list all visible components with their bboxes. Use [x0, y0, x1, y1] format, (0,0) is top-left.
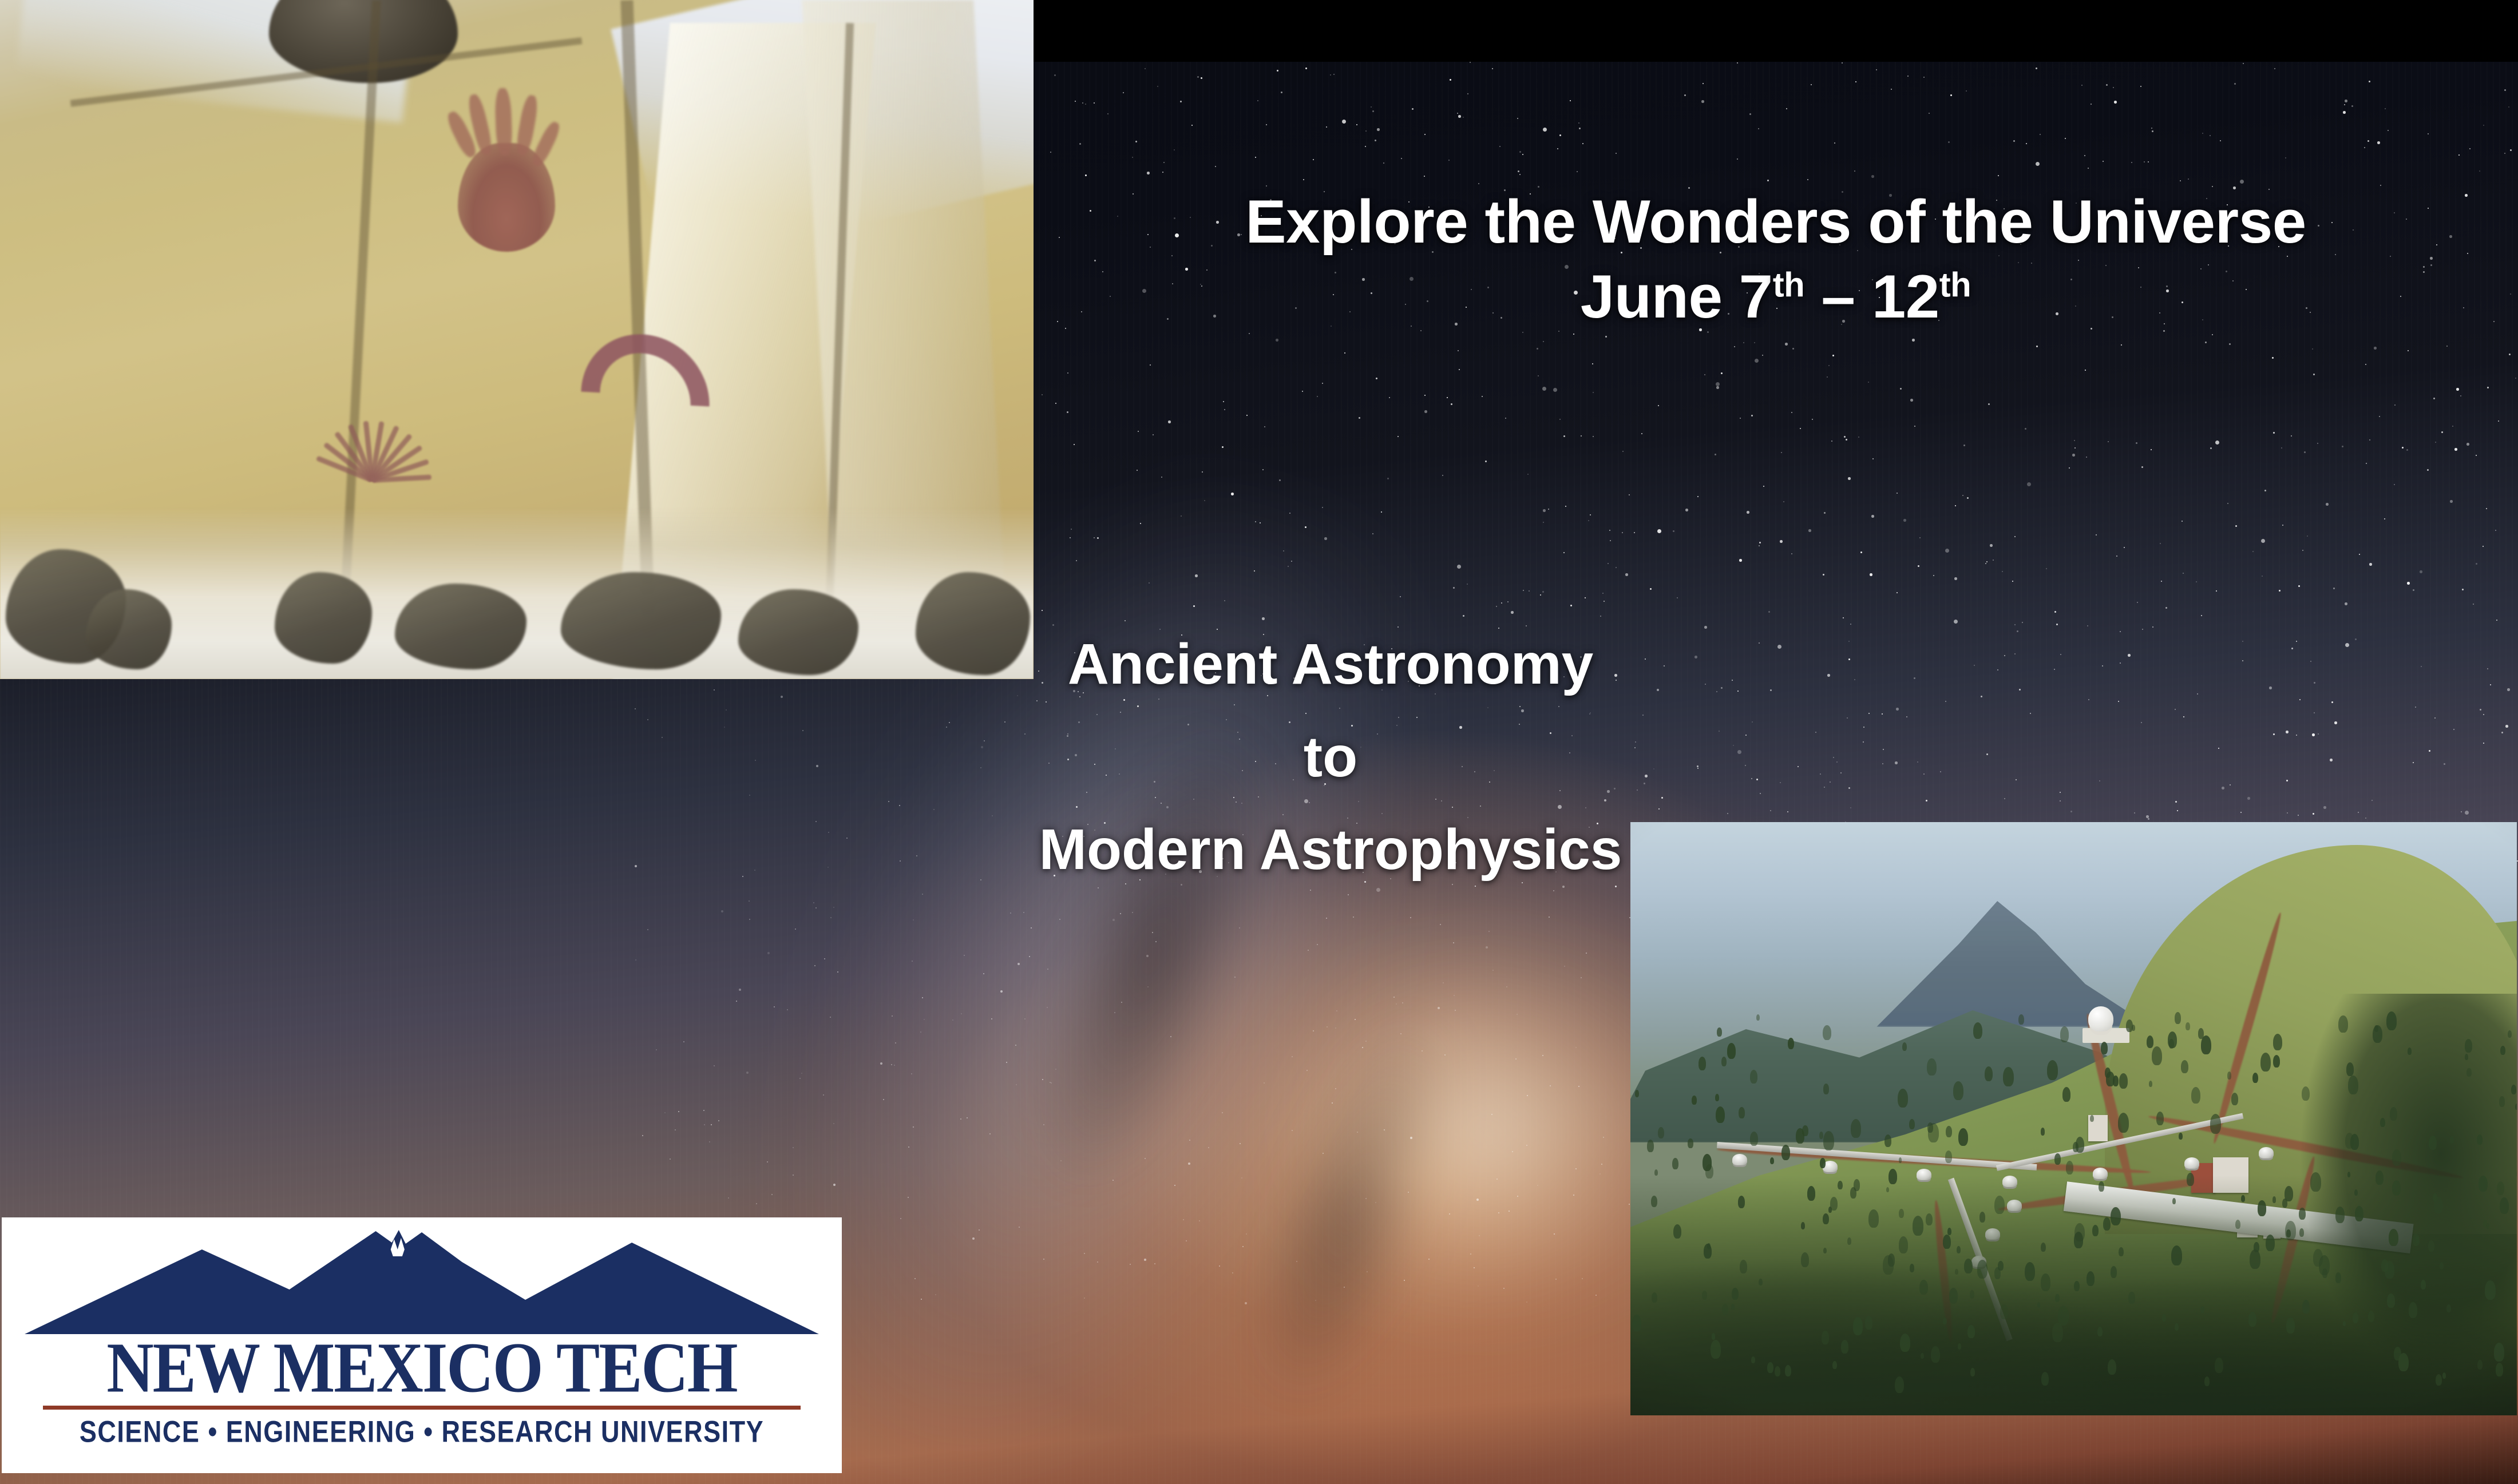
tree: [2409, 1302, 2417, 1318]
tree: [2348, 1076, 2358, 1094]
tree: [1964, 1259, 1973, 1273]
tree: [2073, 1142, 2078, 1152]
telescope-enclosure: [2184, 1157, 2199, 1169]
tree: [2058, 1306, 2069, 1326]
tree: [2286, 1229, 2291, 1237]
tree: [1692, 1096, 1697, 1105]
tree: [2413, 1233, 2420, 1246]
tree: [1699, 1057, 1706, 1070]
tree: [2479, 1176, 2488, 1192]
tree: [2087, 1271, 2095, 1286]
tree: [2175, 1323, 2179, 1331]
tree: [2500, 1197, 2509, 1214]
tree: [2227, 1072, 2231, 1080]
tree: [2250, 1249, 2260, 1269]
tree: [1909, 1119, 1915, 1129]
tree: [2074, 1223, 2085, 1241]
tree: [2381, 1259, 2388, 1272]
tree: [2108, 1359, 2116, 1375]
tree: [1715, 1094, 1719, 1101]
tree: [2516, 1171, 2517, 1177]
tree: [1759, 1279, 1763, 1285]
tree: [1822, 1331, 1829, 1344]
tree: [2000, 1304, 2008, 1319]
tree: [2090, 1115, 2094, 1122]
tree: [2386, 1011, 2397, 1030]
tree: [2273, 1034, 2282, 1050]
tree: [1750, 1132, 1758, 1146]
event-title: Explore the Wonders of the Universe June…: [1034, 184, 2518, 334]
tree: [2496, 1363, 2503, 1376]
tree: [2235, 1220, 2240, 1229]
tree: [1928, 1123, 1939, 1142]
tree: [2350, 1134, 2359, 1150]
subtitle-line-3: Modern Astrophysics: [910, 803, 1751, 896]
tree: [1967, 1325, 1975, 1338]
tree: [2429, 1136, 2437, 1150]
tree: [2186, 1022, 2190, 1030]
tree: [1985, 1066, 1993, 1081]
tree: [1926, 1213, 1933, 1225]
tree: [1898, 1089, 1908, 1108]
subtitle-line-2: to: [910, 711, 1751, 803]
tree: [1632, 1315, 1641, 1331]
tree: [2392, 1149, 2401, 1166]
tree: [1910, 1264, 1914, 1272]
tree: [2097, 1327, 2103, 1336]
tree: [2433, 1193, 2437, 1201]
tree: [2041, 1372, 2049, 1386]
tree: [1647, 1140, 1654, 1152]
tree: [2515, 1104, 2517, 1110]
tree: [1853, 1317, 1863, 1335]
tree: [2252, 1073, 2258, 1083]
tree: [2286, 1318, 2295, 1334]
tree: [1775, 1366, 1780, 1376]
tree: [2025, 1262, 2035, 1281]
tree: [1801, 1252, 1809, 1267]
tree: [1781, 1145, 1790, 1160]
tree: [2037, 1302, 2040, 1308]
tree: [1801, 1222, 1805, 1229]
tree: [2310, 1172, 2321, 1192]
tree: [1672, 1158, 1678, 1169]
tree: [2477, 1360, 2483, 1370]
tree: [2111, 1207, 2121, 1225]
tree: [2231, 1093, 2238, 1105]
top-letterbox-band: [1034, 0, 2518, 62]
tree: [2390, 1107, 2397, 1121]
tree: [1823, 1213, 1829, 1224]
tree: [2313, 1249, 2323, 1267]
tree: [2335, 1207, 2345, 1223]
tree: [2200, 1306, 2204, 1313]
tree: [1820, 1158, 1826, 1168]
tree: [1900, 1334, 1910, 1352]
tree: [1921, 1353, 1924, 1359]
tree: [2172, 1198, 2176, 1204]
tree: [2389, 1229, 2398, 1246]
tree: [2210, 1114, 2221, 1134]
tree: [2092, 1225, 2099, 1236]
tree: [1899, 1236, 1908, 1253]
tree: [1998, 1261, 2004, 1271]
tree: [1886, 1187, 1889, 1192]
tree: [2101, 1042, 2108, 1054]
tree: [2353, 1312, 2358, 1323]
tree: [1851, 1119, 1861, 1138]
tree: [1927, 1058, 1937, 1076]
tree: [1750, 1070, 1757, 1084]
tree: [2368, 1311, 2374, 1322]
tree: [1705, 1164, 1713, 1179]
tree: [2215, 1358, 2223, 1373]
tree: [2497, 1181, 2504, 1195]
tree: [2126, 1019, 2133, 1032]
tree: [1785, 1365, 1791, 1376]
tree: [2338, 1015, 2348, 1033]
tree: [2260, 1053, 2271, 1072]
title-date-prefix: June 7: [1581, 262, 1773, 331]
tree: [2302, 1300, 2310, 1314]
tree: [1740, 1260, 1747, 1273]
tree: [2408, 1047, 2412, 1055]
tree: [2181, 1060, 2188, 1073]
new-mexico-tech-logo: NEW MEXICO TECH SCIENCE • ENGINEERING • …: [2, 1217, 842, 1473]
handprint-pictograph: [458, 143, 555, 252]
tree: [1721, 1057, 1727, 1066]
tree: [1722, 1304, 1728, 1315]
tree: [2041, 1273, 2050, 1291]
tree: [1751, 1356, 1755, 1363]
tree: [1958, 1343, 1961, 1350]
tree: [2066, 1161, 2073, 1174]
tree: [2477, 1134, 2483, 1145]
logo-wordmark: NEW MEXICO TECH: [106, 1331, 737, 1404]
tree: [2103, 1217, 2111, 1231]
tree: [2241, 1195, 2245, 1202]
tree: [2494, 1343, 2504, 1362]
tree: [1717, 1027, 1722, 1037]
tree: [1770, 1157, 1774, 1164]
presentation-slide: Explore the Wonders of the Universe June…: [0, 0, 2518, 1484]
tree: [2054, 1153, 2061, 1165]
title-date-mid: – 12: [1804, 262, 1939, 331]
tree: [2450, 1136, 2454, 1144]
tree: [2380, 1118, 2385, 1127]
tree: [2466, 1068, 2472, 1077]
tree: [2052, 1323, 2063, 1342]
tree: [1756, 1014, 1760, 1021]
tree: [2485, 1280, 2496, 1300]
tree: [1913, 1216, 1923, 1236]
tree: [1970, 1290, 1974, 1299]
rubble-rock: [275, 572, 372, 664]
tree: [2074, 1281, 2080, 1291]
tree: [1957, 1246, 1961, 1253]
petroglyph-photo: [0, 0, 1034, 679]
tree: [2168, 1031, 2177, 1048]
tree: [1888, 1169, 1897, 1184]
tree: [1865, 1316, 1872, 1330]
tree: [2201, 1035, 2211, 1054]
tree: [2062, 1087, 2070, 1102]
tree: [1943, 1318, 1947, 1324]
tree: [2299, 1228, 2304, 1237]
tree: [1654, 1169, 1658, 1176]
tree: [1902, 1042, 1907, 1051]
tree: [1943, 1235, 1951, 1249]
tree: [2440, 1262, 2444, 1269]
tree: [2258, 1200, 2266, 1216]
tree: [1702, 1291, 1707, 1300]
tree: [1712, 1333, 1715, 1340]
tree: [2041, 1243, 2046, 1252]
tree: [1977, 1260, 1988, 1279]
tree: [1807, 1186, 1815, 1201]
tree: [2119, 1073, 2128, 1089]
tree: [1635, 1090, 1639, 1097]
tree: [1688, 1138, 1693, 1148]
tree: [1854, 1179, 1860, 1191]
tree: [2106, 1072, 2115, 1086]
tree: [2119, 1247, 2124, 1256]
tree: [2376, 1170, 2384, 1185]
tree: [1731, 1304, 1735, 1310]
tree: [2322, 1268, 2327, 1278]
tree: [2500, 1046, 2505, 1055]
tree: [1994, 1196, 2005, 1214]
telescope-dome: [2088, 1006, 2113, 1031]
tree: [1949, 1288, 1958, 1304]
tree: [2285, 1186, 2293, 1201]
tree: [1658, 1127, 1664, 1138]
title-line-1: Explore the Wonders of the Universe: [1034, 184, 2518, 259]
tree: [2511, 1085, 2516, 1094]
tree: [2302, 1086, 2310, 1101]
tree: [1868, 1209, 1879, 1228]
subtitle-line-1: Ancient Astronomy: [910, 618, 1751, 711]
tree: [2060, 1026, 2069, 1042]
tree: [1802, 1125, 1808, 1136]
tree: [1673, 1224, 1681, 1239]
tree: [2171, 1245, 2182, 1265]
tree: [2387, 1293, 2395, 1308]
tree: [1727, 1043, 1736, 1059]
tree: [2099, 1181, 2104, 1192]
tree: [2354, 1189, 2358, 1196]
tree: [2266, 1235, 2275, 1251]
tree: [2003, 1067, 2014, 1086]
tree: [2248, 1312, 2256, 1327]
tree: [1946, 1126, 1952, 1137]
tree: [2392, 1180, 2401, 1196]
tree: [2394, 1347, 2401, 1360]
event-subtitle: Ancient Astronomy to Modern Astrophysics: [910, 618, 1751, 896]
tree: [1979, 1212, 1985, 1223]
rubble-rock: [561, 572, 721, 669]
tree: [1738, 1196, 1745, 1208]
tree: [2175, 1012, 2181, 1024]
tree: [2486, 1223, 2489, 1229]
tree: [1823, 1131, 1834, 1150]
tree: [1739, 1107, 1745, 1118]
tree: [2421, 1280, 2426, 1289]
tree: [1895, 1376, 1904, 1393]
tree: [2343, 1321, 2346, 1326]
tree: [2055, 1294, 2060, 1302]
tree: [2272, 1196, 2276, 1203]
tree: [2273, 1055, 2280, 1068]
tree: [2346, 1062, 2354, 1076]
tree: [2162, 1314, 2166, 1322]
tree: [1958, 1128, 1968, 1146]
tree: [2508, 1030, 2512, 1038]
tree: [2179, 1133, 2183, 1140]
tree: [1838, 1181, 1843, 1189]
tree: [1652, 1292, 1657, 1303]
tree: [1899, 1209, 1904, 1218]
tree: [1899, 1157, 1902, 1163]
tree: [2299, 1208, 2306, 1220]
tree: [2018, 1014, 2024, 1025]
logo-tagline: SCIENCE • ENGINEERING • RESEARCH UNIVERS…: [19, 1414, 825, 1449]
tree: [1832, 1361, 1837, 1369]
tree: [2118, 1113, 2129, 1133]
tree: [1953, 1081, 1963, 1100]
tree: [1732, 1288, 1739, 1300]
tree: [1945, 1150, 1952, 1163]
rubble-rock: [395, 584, 526, 669]
mountain-peaks-icon: [19, 1227, 825, 1335]
tree: [2374, 1025, 2378, 1032]
tree: [1707, 1243, 1711, 1249]
tree: [2128, 1292, 2135, 1304]
tree: [2047, 1060, 2058, 1080]
telescope-enclosure: [1732, 1154, 1747, 1165]
tree: [1819, 1132, 1823, 1139]
tree: [2156, 1112, 2164, 1125]
tree: [1973, 1022, 1982, 1039]
title-date-ordinal-1: th: [1773, 265, 1805, 304]
tree: [2446, 1304, 2451, 1312]
tree: [2499, 1096, 2505, 1107]
tree: [2191, 1087, 2200, 1104]
tree: [1716, 1106, 1725, 1123]
tree: [2465, 1039, 2472, 1053]
tree: [2041, 1128, 2045, 1136]
title-date-ordinal-2: th: [1939, 265, 1971, 304]
tree: [1919, 1280, 1928, 1295]
tree: [1823, 1025, 1831, 1040]
tree: [1841, 1340, 1848, 1354]
tree: [1970, 1368, 1975, 1376]
tree: [1888, 1253, 1895, 1267]
tree: [2428, 1240, 2434, 1252]
tree: [1955, 1269, 1958, 1275]
tree: [2436, 1374, 2442, 1386]
tree: [2149, 1081, 2152, 1087]
tree: [2347, 1172, 2350, 1177]
tree: [2204, 1376, 2210, 1386]
rubble-rock: [86, 589, 172, 669]
tree: [2152, 1046, 2162, 1065]
tree: [1788, 1038, 1794, 1049]
tree: [2335, 1272, 2341, 1283]
tree: [1823, 1248, 1827, 1253]
tree: [2355, 1206, 2363, 1221]
observatory-photo: [1630, 822, 2517, 1415]
forest-right-slope: [2265, 994, 2517, 1394]
tree: [1767, 1362, 1773, 1373]
tree: [1884, 1134, 1891, 1147]
tree: [1830, 1197, 1838, 1211]
tree: [1711, 1340, 1721, 1359]
tree: [2111, 1266, 2117, 1278]
tree: [2187, 1173, 2194, 1186]
title-line-2: June 7th – 12th: [1034, 259, 2518, 334]
tree: [1847, 1237, 1851, 1245]
tree: [2465, 1054, 2468, 1060]
tree: [1651, 1196, 1657, 1207]
tree: [1931, 1346, 1940, 1363]
tree: [2147, 1035, 2153, 1048]
rubble-rock: [738, 589, 858, 675]
tree: [1823, 1084, 1829, 1094]
